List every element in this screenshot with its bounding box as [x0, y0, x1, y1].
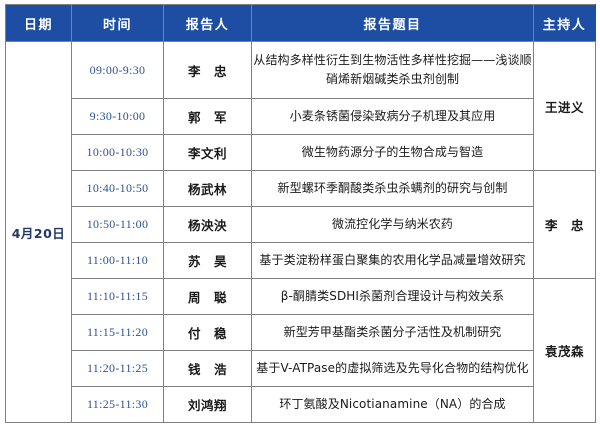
time-cell: 09:00-9:30 — [72, 42, 164, 99]
table-row: 4月20日 09:00-9:30 李 忠 从结构多样性衍生到生物活性多样性挖掘—… — [6, 42, 596, 99]
time-cell: 11:15-11:20 — [72, 315, 164, 351]
time-cell: 11:10-11:15 — [72, 279, 164, 315]
table-row: 11:10-11:15 周 聪 β-酮腈类SDHI杀菌剂合理设计与构效关系 袁茂… — [6, 279, 596, 315]
table-header: 日期 时间 报告人 报告题目 主持人 — [6, 5, 596, 42]
table-row: 9:30-10:00 郭 军 小麦条锈菌侵染致病分子机理及其应用 — [6, 99, 596, 135]
speaker-cell: 周 聪 — [164, 279, 252, 315]
table-row: 10:00-10:30 李文利 微生物药源分子的生物合成与智造 — [6, 135, 596, 171]
host-cell: 袁茂森 — [534, 279, 596, 423]
date-cell: 4月20日 — [6, 42, 72, 423]
speaker-cell: 钱 浩 — [164, 351, 252, 387]
time-cell: 11:20-11:25 — [72, 351, 164, 387]
speaker-cell: 付 稳 — [164, 315, 252, 351]
speaker-cell: 杨泱泱 — [164, 207, 252, 243]
speaker-cell: 李文利 — [164, 135, 252, 171]
time-cell: 11:25-11:30 — [72, 387, 164, 423]
speaker-cell: 李 忠 — [164, 42, 252, 99]
table-row: 10:50-11:00 杨泱泱 微流控化学与纳米农药 — [6, 207, 596, 243]
column-header-date: 日期 — [6, 5, 72, 42]
speaker-cell: 郭 军 — [164, 99, 252, 135]
table-row: 11:15-11:20 付 稳 新型芳甲基酯类杀菌分子活性及机制研究 — [6, 315, 596, 351]
title-cell: β-酮腈类SDHI杀菌剂合理设计与构效关系 — [252, 279, 534, 315]
title-cell: 基于V-ATPase的虚拟筛选及先导化合物的结构优化 — [252, 351, 534, 387]
time-cell: 10:50-11:00 — [72, 207, 164, 243]
table-row: 11:25-11:30 刘鸿翔 环丁氨酸及Nicotianamine（NA）的合… — [6, 387, 596, 423]
title-cell: 微生物药源分子的生物合成与智造 — [252, 135, 534, 171]
column-header-time: 时间 — [72, 5, 164, 42]
title-cell: 环丁氨酸及Nicotianamine（NA）的合成 — [252, 387, 534, 423]
title-cell: 微流控化学与纳米农药 — [252, 207, 534, 243]
table-row: 11:00-11:10 苏 昊 基于类淀粉样蛋白聚集的农用化学品减量增效研究 — [6, 243, 596, 279]
title-cell: 新型螺环季酮酸类杀虫杀螨剂的研究与创制 — [252, 171, 534, 207]
title-cell: 新型芳甲基酯类杀菌分子活性及机制研究 — [252, 315, 534, 351]
time-cell: 10:40-10:50 — [72, 171, 164, 207]
column-header-host: 主持人 — [534, 5, 596, 42]
column-header-speaker: 报告人 — [164, 5, 252, 42]
time-cell: 10:00-10:30 — [72, 135, 164, 171]
schedule-page: 日期 时间 报告人 报告题目 主持人 4月20日 09:00-9:30 李 忠 … — [0, 0, 600, 442]
table-row: 10:40-10:50 杨武林 新型螺环季酮酸类杀虫杀螨剂的研究与创制 李 忠 — [6, 171, 596, 207]
host-cell: 王进义 — [534, 42, 596, 171]
header-row: 日期 时间 报告人 报告题目 主持人 — [6, 5, 596, 42]
title-cell: 从结构多样性衍生到生物活性多样性挖掘——浅谈顺硝烯新烟碱类杀虫剂创制 — [252, 42, 534, 99]
time-cell: 11:00-11:10 — [72, 243, 164, 279]
speaker-cell: 苏 昊 — [164, 243, 252, 279]
table-body: 4月20日 09:00-9:30 李 忠 从结构多样性衍生到生物活性多样性挖掘—… — [6, 42, 596, 423]
time-cell: 9:30-10:00 — [72, 99, 164, 135]
column-header-title: 报告题目 — [252, 5, 534, 42]
table-row: 11:20-11:25 钱 浩 基于V-ATPase的虚拟筛选及先导化合物的结构… — [6, 351, 596, 387]
speaker-cell: 刘鸿翔 — [164, 387, 252, 423]
title-cell: 小麦条锈菌侵染致病分子机理及其应用 — [252, 99, 534, 135]
conference-schedule-table: 日期 时间 报告人 报告题目 主持人 4月20日 09:00-9:30 李 忠 … — [5, 4, 596, 423]
host-cell: 李 忠 — [534, 171, 596, 279]
speaker-cell: 杨武林 — [164, 171, 252, 207]
title-cell: 基于类淀粉样蛋白聚集的农用化学品减量增效研究 — [252, 243, 534, 279]
